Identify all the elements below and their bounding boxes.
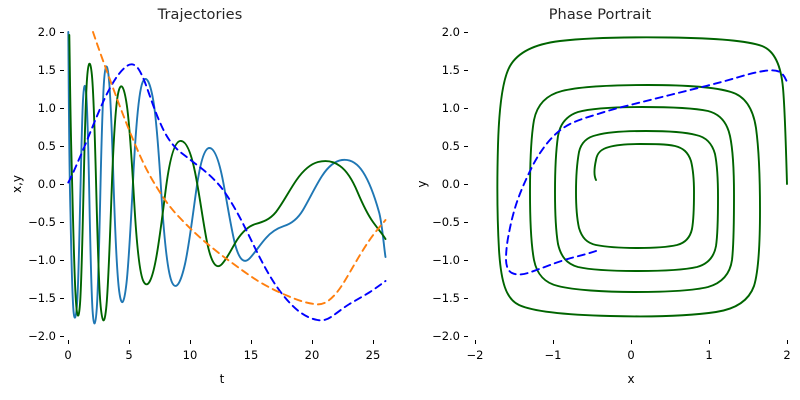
series-x-solid-blue [68,32,385,323]
panel-trajectories: Trajectories 2.0 1.5 1.0 0.5 0.0 −0.5 −1… [0,0,400,400]
panel-phase-portrait: Phase Portrait 2.0 1.5 1.0 0.5 0.0 −0.5 … [400,0,800,400]
figure-canvas: Trajectories 2.0 1.5 1.0 0.5 0.0 −0.5 −1… [0,0,800,400]
right-plot-curves [400,0,800,400]
left-plot-curves [0,0,400,400]
series-phase-spiral-green [497,37,787,316]
